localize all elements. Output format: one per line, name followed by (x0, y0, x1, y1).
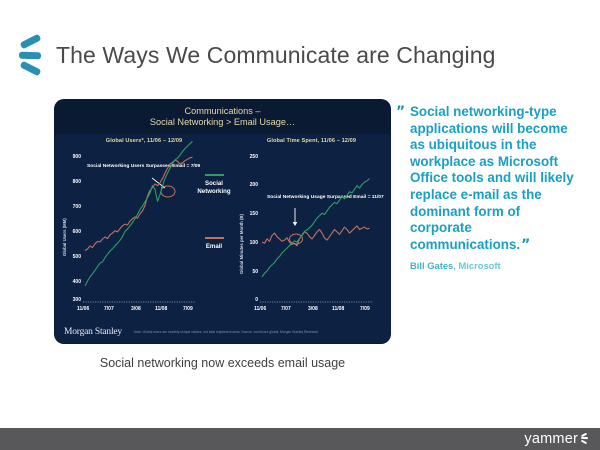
yammer-burst-icon (10, 35, 44, 75)
quote-block: ”Social networking-type applications wil… (396, 104, 576, 271)
x-tick: 11/06 (254, 306, 266, 312)
slide-header: The Ways We Communicate are Changing (0, 30, 600, 80)
quote-text-container: ”Social networking-type applications wil… (396, 104, 576, 253)
chart-header-line-1: Communications – (184, 106, 260, 118)
chart-panels: Global Users*, 11/06 – 12/09 Global User… (55, 134, 390, 321)
legend-item-email: Email (197, 237, 231, 251)
page-title: The Ways We Communicate are Changing (56, 42, 496, 69)
chart-card-header: Communications – Social Networking > Ema… (55, 100, 390, 134)
quote-open-mark: ” (396, 104, 404, 121)
x-tick: 3/08 (308, 306, 318, 312)
x-tick: 11/06 (77, 306, 89, 312)
legend-swatch-email (205, 237, 224, 239)
x-tick: 11/08 (332, 306, 344, 312)
quote-attribution-name: Bill Gates (410, 260, 453, 271)
x-tick: 7/09 (183, 306, 193, 312)
quote-text: Social networking-type applications will… (410, 104, 574, 252)
footer-bar: yammer (0, 428, 600, 450)
legend-label-email: Email (197, 243, 231, 251)
footer-wordmark: yammer (524, 432, 578, 446)
chart-caption: Social networking now exceeds email usag… (55, 356, 390, 370)
x-tick: 7/09 (360, 306, 370, 312)
x-tick: 7/07 (281, 306, 291, 312)
yammer-burst-icon (579, 434, 587, 445)
quote-attribution-company: , Microsoft (453, 260, 500, 271)
chart-footnote: Note: Global users are monthly unique vi… (134, 330, 318, 334)
chart-panel-global-time-spent: Global Time Spent, 11/06 – 12/09 Global … (233, 134, 390, 321)
plot-area-global-users (55, 134, 233, 321)
chart-panel-global-users: Global Users*, 11/06 – 12/09 Global User… (55, 134, 233, 321)
plot-area-global-time-spent (233, 134, 390, 321)
legend-swatch-social (205, 174, 224, 176)
quote-attribution: Bill Gates, Microsoft (396, 260, 576, 271)
chart-card-footer: Morgan Stanley Note: Global users are mo… (55, 321, 390, 343)
x-tick: 7/07 (104, 306, 114, 312)
chart-image-card: Communications – Social Networking > Ema… (55, 100, 390, 343)
morgan-stanley-wordmark: Morgan Stanley (64, 327, 122, 337)
x-tick: 3/08 (131, 306, 141, 312)
x-tick: 11/08 (155, 306, 167, 312)
quote-close-mark: ” (521, 237, 529, 253)
chart-header-line-2: Social Networking > Email Usage… (150, 117, 295, 129)
legend-label-social: Social Networking (197, 180, 231, 195)
legend-item-social-networking: Social Networking (197, 174, 231, 195)
footer-logo: yammer (524, 432, 587, 446)
